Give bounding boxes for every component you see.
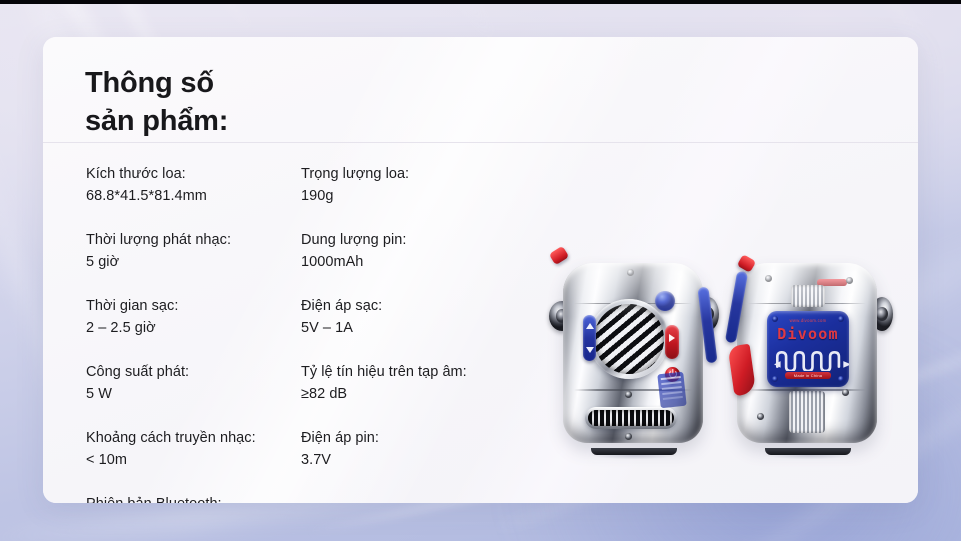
volume-up-icon (586, 323, 594, 329)
spec-column-right: Trọng lượng loa: 190g Dung lượng pin: 10… (301, 163, 516, 503)
speaker-grille-icon (589, 299, 669, 379)
spec-item: Kích thước loa: 68.8*41.5*81.4mm (86, 163, 301, 207)
screw-icon (765, 275, 772, 282)
product-images: www.divoom.com Divoom Made in China (513, 225, 918, 480)
chrome-body (563, 263, 703, 443)
spec-label: Dung lượng pin: (301, 229, 516, 251)
spec-item: Dung lượng pin: 1000mAh (301, 229, 516, 273)
spec-value: 1000mAh (301, 251, 516, 273)
volume-buttons[interactable] (583, 315, 596, 361)
top-accent-bar (817, 279, 847, 286)
page-title: Thông số sản phẩm: (85, 65, 228, 140)
spec-label: Kích thước loa: (86, 163, 301, 185)
spec-value: 5 giờ (86, 251, 301, 273)
screw-icon (838, 376, 844, 382)
volume-down-icon (586, 347, 594, 353)
mode-button[interactable] (655, 291, 675, 311)
spec-label: Phiên bản Bluetooth: (86, 493, 301, 503)
spec-label: Điện áp pin: (301, 427, 516, 449)
slide-stage: Thông số sản phẩm: Kích thước loa: 68.8*… (0, 0, 961, 541)
manufacture-tag: Made in China (785, 372, 831, 379)
screw-icon (772, 376, 778, 382)
spec-item: Khoảng cách truyền nhạc: < 10m (86, 427, 301, 471)
base-foot (765, 448, 851, 455)
screw-icon (846, 277, 853, 284)
spec-label: Khoảng cách truyền nhạc: (86, 427, 301, 449)
spec-value: 5V – 1A (301, 317, 516, 339)
spec-item: Thời lượng phát nhạc: 5 giờ (86, 229, 301, 273)
header-divider (43, 142, 918, 143)
spec-label: Thời lượng phát nhạc: (86, 229, 301, 251)
body-seam (748, 303, 866, 305)
spec-item: Trọng lượng loa: 190g (301, 163, 516, 207)
spec-item: Công suất phát: 5 W (86, 361, 301, 405)
speaker-front-view (551, 249, 717, 457)
spec-label: Điện áp sạc: (301, 295, 516, 317)
speaker-back-view: www.divoom.com Divoom Made in China (725, 249, 891, 457)
spec-label: Trọng lượng loa: (301, 163, 516, 185)
screw-icon (842, 389, 849, 396)
spec-value: < 10m (86, 449, 301, 471)
side-label (657, 372, 686, 409)
spec-item: Điện áp pin: 3.7V (301, 427, 516, 471)
spec-item: Tỷ lệ tín hiệu trên tạp âm: ≥82 dB (301, 361, 516, 405)
spec-value: 3.7V (301, 449, 516, 471)
spec-columns: Kích thước loa: 68.8*41.5*81.4mm Thời lư… (86, 163, 516, 503)
vent-grille-icon (791, 285, 825, 307)
bass-port-grille-icon (585, 407, 677, 429)
spec-label: Tỷ lệ tín hiệu trên tạp âm: (301, 361, 516, 383)
spec-value: ≥82 dB (301, 383, 516, 405)
spec-value: 5 W (86, 383, 301, 405)
spec-value: 68.8*41.5*81.4mm (86, 185, 301, 207)
card-header: Thông số sản phẩm: (85, 65, 228, 140)
circuit-wave-icon (774, 349, 849, 371)
spec-label: Thời gian sạc: (86, 295, 301, 317)
screw-icon (757, 413, 764, 420)
spec-item: Thời gian sạc: 2 – 2.5 giờ (86, 295, 301, 339)
chrome-body: www.divoom.com Divoom Made in China (737, 263, 877, 443)
vent-grille-icon (789, 391, 825, 433)
screw-icon (625, 391, 632, 398)
screw-icon (625, 433, 632, 440)
spec-item: Phiên bản Bluetooth: 5.3 (86, 493, 301, 503)
spec-label: Công suất phát: (86, 361, 301, 383)
base-foot (591, 448, 677, 455)
play-button[interactable] (665, 325, 679, 359)
screw-icon (627, 269, 634, 276)
letterbox-bar (0, 0, 961, 4)
spec-column-left: Kích thước loa: 68.8*41.5*81.4mm Thời lư… (86, 163, 301, 503)
spec-card: Thông số sản phẩm: Kích thước loa: 68.8*… (43, 37, 918, 503)
brand-url: www.divoom.com (767, 318, 849, 323)
spec-value: 2 – 2.5 giờ (86, 317, 301, 339)
play-icon (669, 334, 675, 342)
brand-panel: www.divoom.com Divoom Made in China (767, 311, 849, 387)
body-seam (574, 303, 692, 305)
spec-item: Điện áp sạc: 5V – 1A (301, 295, 516, 339)
spec-value: 190g (301, 185, 516, 207)
brand-logo: Divoom (767, 325, 849, 343)
